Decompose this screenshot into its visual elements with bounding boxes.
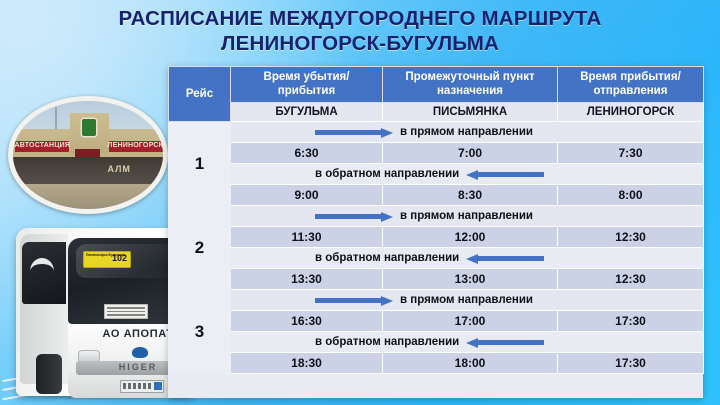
arrow-right-icon (315, 296, 393, 305)
schedule-table: Рейс Время убытия/ прибытия Промежуточны… (168, 66, 704, 374)
table-row: в обратном направлении (169, 332, 704, 353)
arrow-left-icon (466, 338, 544, 347)
city-leninogorsk: ЛЕНИНОГОРСК (558, 103, 704, 122)
direction-backward-cell: в обратном направлении (231, 332, 704, 353)
direction-forward-cell: в прямом направлении (231, 122, 704, 143)
trip-number: 1 (169, 122, 231, 206)
header-arrival-time: Время прибытия/ отправления (558, 67, 704, 103)
bus-manufacturer-logo-icon (132, 347, 148, 358)
trip-1-forward-leninogorsk: 7:30 (558, 143, 704, 164)
direction-backward-label: в обратном направлении (315, 336, 459, 348)
arrow-left-icon (466, 170, 544, 179)
title-line-1: РАСПИСАНИЕ МЕЖДУГОРОДНЕГО МАРШРУТА (0, 6, 720, 31)
direction-backward-cell: в обратном направлении (231, 248, 704, 269)
bus-info-placard (104, 304, 148, 319)
table-row: 13:30 13:00 12:30 (169, 269, 704, 290)
trip-3-forward-leninogorsk: 17:30 (558, 311, 704, 332)
trip-3-backward-pismyanka: 18:00 (383, 353, 558, 374)
direction-forward-label: в прямом направлении (400, 294, 533, 306)
direction-forward-cell: в прямом направлении (231, 290, 704, 311)
trip-2-backward-leninogorsk: 12:30 (558, 269, 704, 290)
arrow-right-icon (315, 212, 393, 221)
direction-backward-cell: в обратном направлении (231, 164, 704, 185)
city-pismyanka: ПИСЬМЯНКА (383, 103, 558, 122)
direction-backward-label: в обратном направлении (315, 168, 459, 180)
trip-3-backward-leninogorsk: 17:30 (558, 353, 704, 374)
trip-2-forward-pismyanka: 12:00 (383, 227, 558, 248)
photo-shop-text: АЛМ (108, 164, 131, 174)
table-header-row: Рейс Время убытия/ прибытия Промежуточны… (169, 67, 704, 103)
schedule-table-wrap: Рейс Время убытия/ прибытия Промежуточны… (168, 66, 703, 398)
trip-2-forward-bugulma: 11:30 (231, 227, 383, 248)
slide-canvas: РАСПИСАНИЕ МЕЖДУГОРОДНЕГО МАРШРУТА ЛЕНИН… (0, 0, 720, 405)
trip-3-forward-pismyanka: 17:00 (383, 311, 558, 332)
table-row: 9:00 8:30 8:00 (169, 185, 704, 206)
trip-1-backward-bugulma: 9:00 (231, 185, 383, 206)
direction-forward-label: в прямом направлении (400, 210, 533, 222)
trip-1-backward-pismyanka: 8:30 (383, 185, 558, 206)
direction-forward-cell: в прямом направлении (231, 206, 704, 227)
trip-2-backward-pismyanka: 13:00 (383, 269, 558, 290)
trip-3-backward-bugulma: 18:30 (231, 353, 383, 374)
trip-2-forward-leninogorsk: 12:30 (558, 227, 704, 248)
trip-number: 2 (169, 206, 231, 290)
arrow-left-icon (466, 254, 544, 263)
photo-glass-facade (8, 157, 168, 185)
photo-ground (8, 184, 168, 210)
trip-1-backward-leninogorsk: 8:00 (558, 185, 704, 206)
table-row: 11:30 12:00 12:30 (169, 227, 704, 248)
bus-route-number: 102 (112, 253, 127, 263)
bus-wheel (36, 354, 62, 394)
title-line-2: ЛЕНИНОГОРСК-БУГУЛЬМА (0, 31, 720, 56)
table-city-row: БУГУЛЬМА ПИСЬМЯНКА ЛЕНИНОГОРСК (169, 103, 704, 122)
direction-forward-label: в прямом направлении (400, 126, 533, 138)
bus-route-sign: Лениногорск Бугульма 102 (84, 252, 130, 267)
bus-station-photo: АВТОСТАНЦИЯ ЛЕНИНОГОРСК АЛМ (8, 96, 168, 214)
direction-backward-label: в обратном направлении (315, 252, 459, 264)
bus-license-plate (120, 380, 164, 393)
trip-number: 3 (169, 290, 231, 374)
table-row: в обратном направлении (169, 248, 704, 269)
photo-sign-right-text: ЛЕНИНОГОРСК (107, 140, 163, 153)
header-departure-time: Время убытия/ прибытия (231, 67, 383, 103)
photo-sign-left-text: АВТОСТАНЦИЯ (15, 140, 71, 153)
photo-emblem-icon (82, 119, 96, 135)
city-bugulma: БУГУЛЬМА (231, 103, 383, 122)
table-row: 6:30 7:00 7:30 (169, 143, 704, 164)
table-row: 3 в прямом направлении (169, 290, 704, 311)
trip-1-forward-pismyanka: 7:00 (383, 143, 558, 164)
arrow-right-icon (315, 128, 393, 137)
header-reis: Рейс (169, 67, 231, 122)
photo-entrance (75, 149, 101, 158)
trip-1-forward-bugulma: 6:30 (231, 143, 383, 164)
table-row: в обратном направлении (169, 164, 704, 185)
table-row: 1 в прямом направлении (169, 122, 704, 143)
table-row: 18:30 18:00 17:30 (169, 353, 704, 374)
header-intermediate-stop: Промежуточный пункт назначения (383, 67, 558, 103)
trip-2-backward-bugulma: 13:30 (231, 269, 383, 290)
trip-3-forward-bugulma: 16:30 (231, 311, 383, 332)
page-title: РАСПИСАНИЕ МЕЖДУГОРОДНЕГО МАРШРУТА ЛЕНИН… (0, 6, 720, 56)
table-row: 16:30 17:00 17:30 (169, 311, 704, 332)
table-row: 2 в прямом направлении (169, 206, 704, 227)
